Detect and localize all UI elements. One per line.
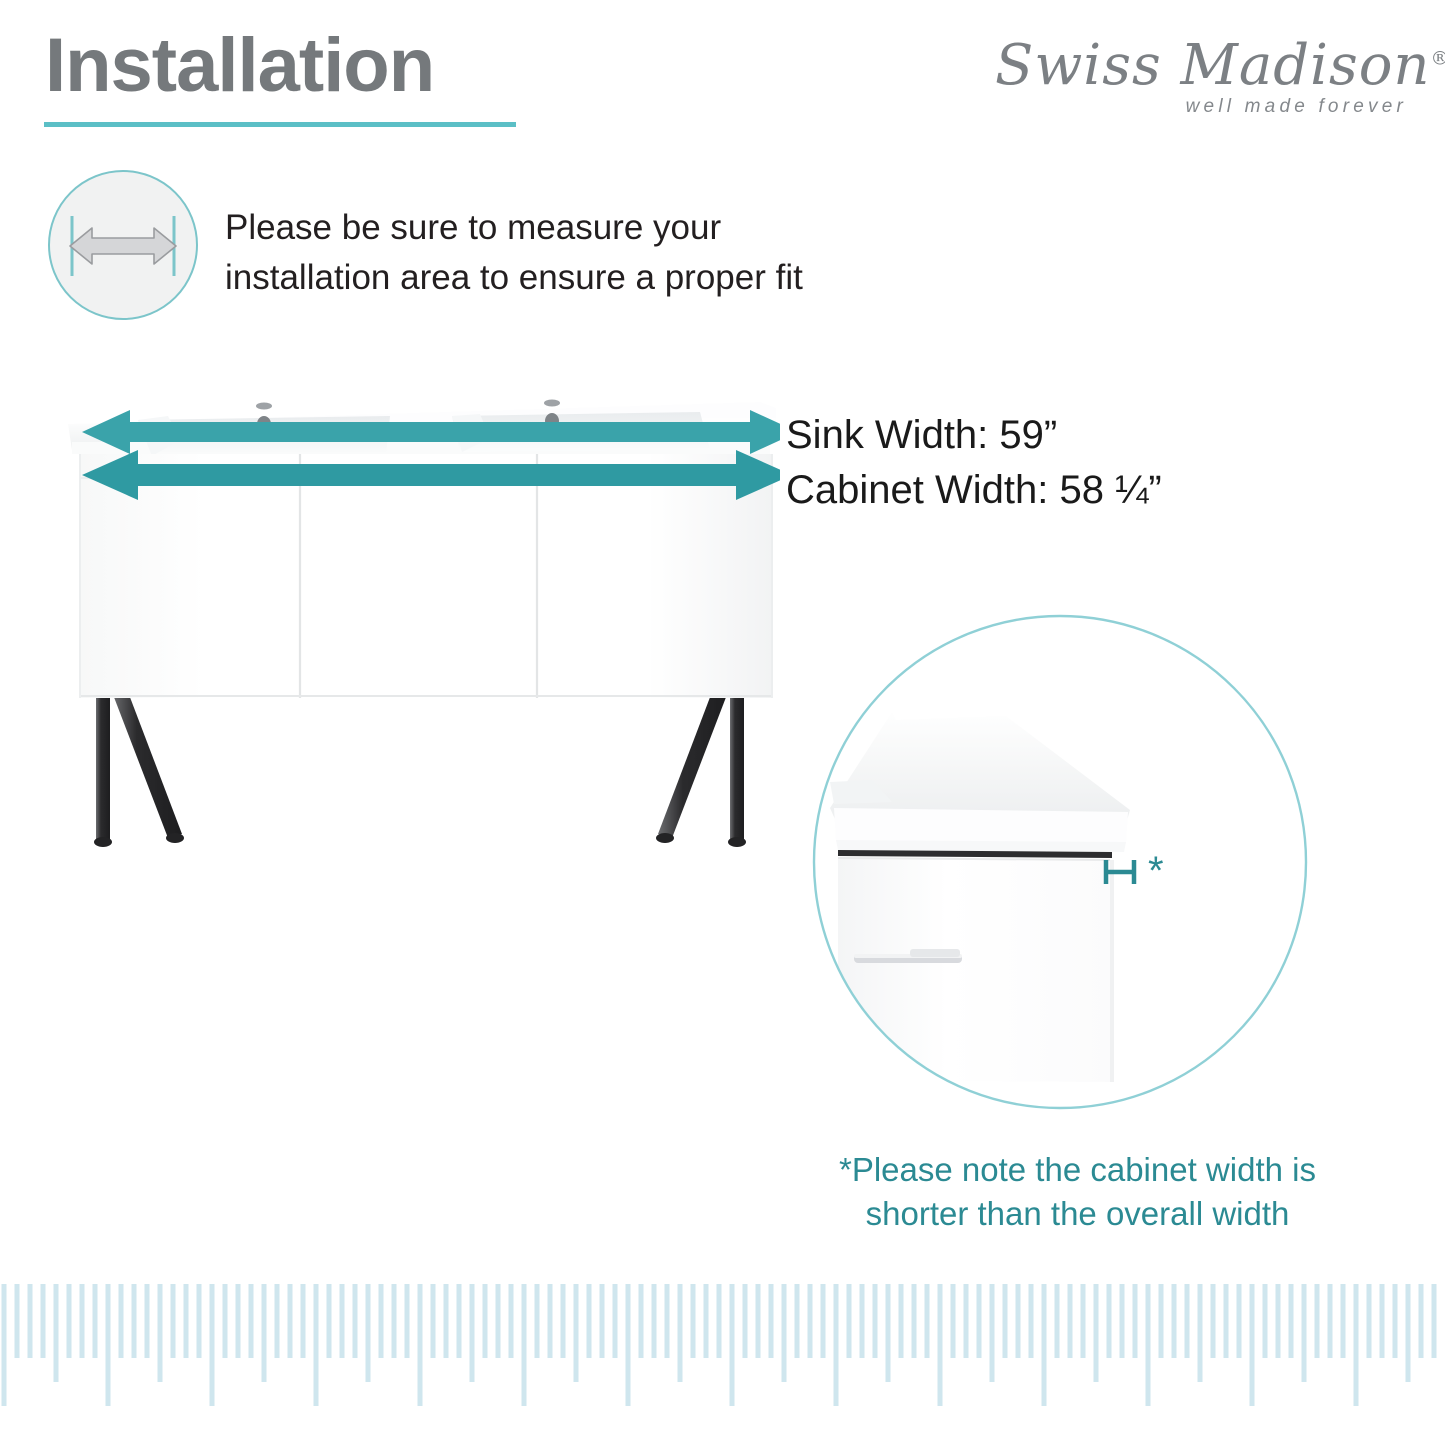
decorative-ruler	[0, 1284, 1445, 1445]
brand-wordmark-text: Swiss Madison	[995, 33, 1431, 98]
measure-note-line-1: Please be sure to measure your	[225, 203, 885, 253]
brand-logo: Swiss Madison® well made forever	[995, 38, 1415, 143]
sink-width-label: Sink Width: 59”	[786, 408, 1346, 463]
measure-note-text: Please be sure to measure your installat…	[225, 203, 885, 302]
vanity-drawing	[60, 380, 780, 860]
brand-tagline: well made forever	[995, 96, 1407, 118]
installation-infographic-page: Installation Swiss Madison® well made fo…	[0, 0, 1445, 1445]
faucet-hole-right	[544, 400, 560, 407]
detail-caption-line-2: shorter than the overall width	[795, 1192, 1360, 1236]
measure-note-line-2: installation area to ensure a proper fit	[225, 253, 885, 303]
measure-icon-badge	[48, 170, 198, 320]
detail-caption-line-1: *Please note the cabinet width is	[795, 1148, 1360, 1192]
vanity-legs	[94, 692, 746, 847]
detail-zoom-drawing: *	[810, 612, 1310, 1112]
vanity-illustration	[60, 380, 780, 860]
ruler-ticks	[0, 1284, 1445, 1445]
registered-trademark-icon: ®	[1431, 47, 1445, 69]
detail-zoom-content	[810, 612, 1310, 1112]
brand-wordmark: Swiss Madison®	[995, 38, 1415, 94]
vanity-cabinet-doors	[80, 454, 772, 698]
faucet-hole-left	[256, 403, 272, 410]
horizontal-double-arrow-icon	[50, 172, 196, 318]
dimension-labels: Sink Width: 59” Cabinet Width: 58 ¼”	[786, 408, 1346, 518]
detail-asterisk-marker: *	[1148, 849, 1164, 893]
title-underline	[44, 122, 516, 127]
cabinet-width-label: Cabinet Width: 58 ¼”	[786, 463, 1346, 518]
detail-caption: *Please note the cabinet width is shorte…	[795, 1148, 1360, 1236]
page-title: Installation	[45, 28, 434, 104]
magnified-detail-circle: *	[810, 612, 1310, 1112]
